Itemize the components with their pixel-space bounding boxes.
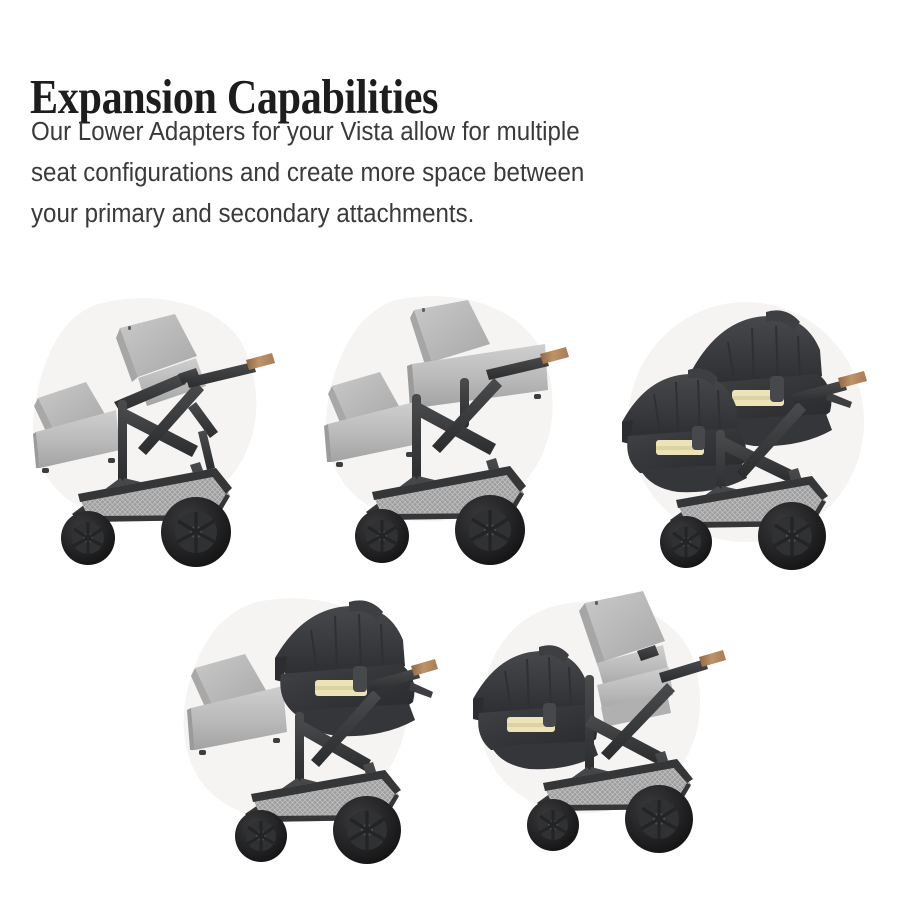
front-wheel (355, 509, 409, 563)
rear-wheel (625, 785, 693, 853)
config-2-bassinet-bassinet-level[interactable] (310, 282, 600, 582)
configuration-gallery (0, 262, 900, 900)
description-line-3: your primary and secondary attachments. (31, 194, 778, 235)
config-4-bassinet-carseat[interactable] (165, 580, 455, 880)
rear-wheel (333, 796, 401, 864)
rear-wheel (758, 502, 826, 570)
description-line-1: Our Lower Adapters for your Vista allow … (31, 112, 778, 153)
config-1-bassinet-bassinet-stacked[interactable] (20, 282, 310, 582)
config-3-carseat-carseat[interactable] (600, 280, 890, 580)
page-description: Our Lower Adapters for your Vista allow … (31, 112, 778, 235)
front-wheel (527, 799, 579, 851)
rear-wheel (455, 495, 525, 565)
rear-wheel (161, 497, 231, 567)
front-wheel (61, 511, 115, 565)
front-wheel (235, 810, 287, 862)
front-wheel (660, 516, 712, 568)
config-5-carseat-toddlerseat[interactable] (455, 567, 745, 867)
expansion-capabilities-page: Expansion Capabilities Our Lower Adapter… (0, 0, 900, 900)
description-line-2: seat configurations and create more spac… (31, 153, 778, 194)
